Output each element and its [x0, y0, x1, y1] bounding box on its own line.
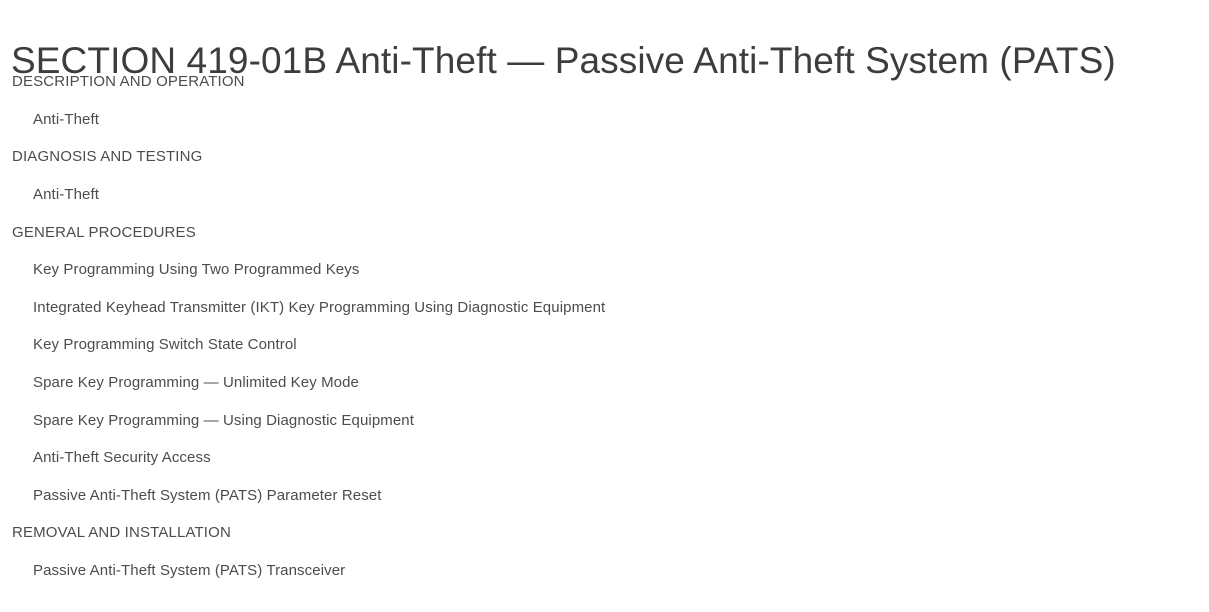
toc-section-header: GENERAL PROCEDURES [0, 213, 1209, 251]
toc-list-item-label: Anti-Theft [0, 185, 99, 204]
toc-list-item-label: Integrated Keyhead Transmitter (IKT) Key… [0, 298, 605, 317]
toc-list-item-label: Spare Key Programming — Unlimited Key Mo… [0, 373, 359, 392]
table-of-contents: DESCRIPTION AND OPERATIONAnti-TheftDIAGN… [0, 63, 1209, 589]
toc-list-item[interactable]: Anti-Theft [0, 176, 1209, 214]
toc-section-header: DESCRIPTION AND OPERATION [0, 63, 1209, 101]
toc-list-item-label: Passive Anti-Theft System (PATS) Paramet… [0, 486, 382, 505]
toc-list-item[interactable]: Key Programming Switch State Control [0, 326, 1209, 364]
toc-list-item[interactable]: Key Programming Using Two Programmed Key… [0, 251, 1209, 289]
toc-section-header: DIAGNOSIS AND TESTING [0, 138, 1209, 176]
toc-section-header-label: REMOVAL AND INSTALLATION [0, 523, 231, 542]
toc-list-item-label: Key Programming Switch State Control [0, 335, 297, 354]
toc-list-item[interactable]: Anti-Theft Security Access [0, 439, 1209, 477]
toc-list-item-label: Passive Anti-Theft System (PATS) Transce… [0, 561, 345, 580]
toc-list-item[interactable]: Spare Key Programming — Unlimited Key Mo… [0, 364, 1209, 402]
toc-section-header-label: DIAGNOSIS AND TESTING [0, 147, 202, 166]
toc-list-item-label: Spare Key Programming — Using Diagnostic… [0, 411, 414, 430]
toc-list-item[interactable]: Integrated Keyhead Transmitter (IKT) Key… [0, 289, 1209, 327]
toc-list-item[interactable]: Spare Key Programming — Using Diagnostic… [0, 401, 1209, 439]
toc-section-header: REMOVAL AND INSTALLATION [0, 514, 1209, 552]
toc-list-item-label: Key Programming Using Two Programmed Key… [0, 260, 359, 279]
toc-list-item[interactable]: Passive Anti-Theft System (PATS) Transce… [0, 552, 1209, 590]
toc-list-item[interactable]: Passive Anti-Theft System (PATS) Paramet… [0, 477, 1209, 515]
toc-list-item-label: Anti-Theft Security Access [0, 448, 211, 467]
toc-list-item[interactable]: Anti-Theft [0, 101, 1209, 139]
toc-section-header-label: DESCRIPTION AND OPERATION [0, 72, 245, 91]
toc-section-header-label: GENERAL PROCEDURES [0, 223, 196, 242]
toc-list-item-label: Anti-Theft [0, 110, 99, 129]
document-page: SECTION 419-01B Anti-Theft — Passive Ant… [0, 0, 1209, 612]
